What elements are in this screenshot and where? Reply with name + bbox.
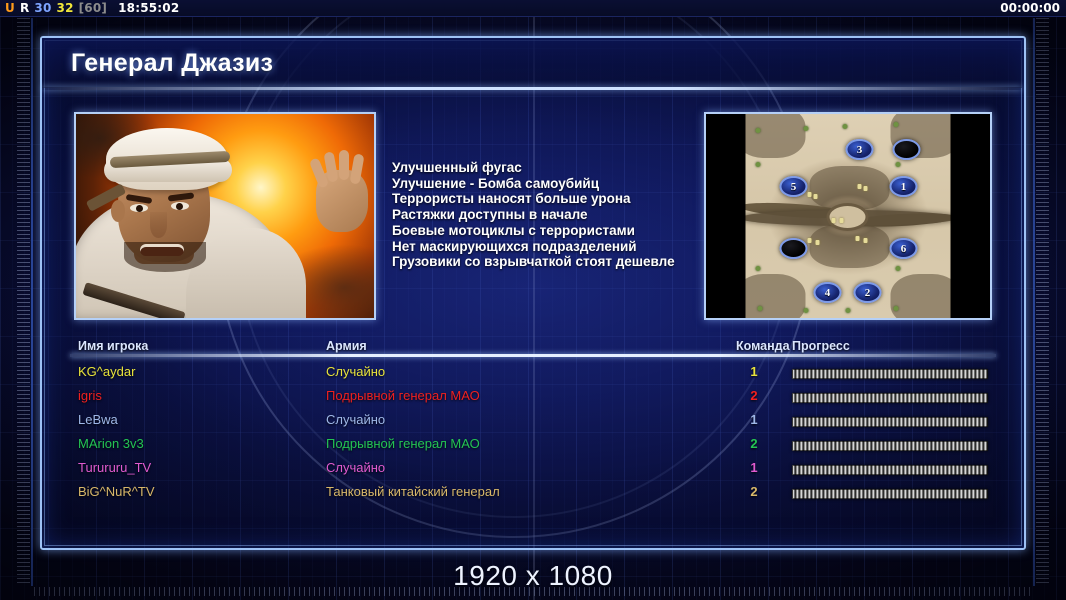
minimap-tree-marker — [758, 306, 763, 311]
panel-title-row: Генерал Джазиз — [42, 38, 1022, 88]
column-header-army: Армия — [326, 339, 367, 353]
player-progress — [792, 436, 988, 451]
description-line: Грузовики со взрывчаткой стоят дешевле — [392, 254, 752, 270]
player-table: Имя игрока Армия Команда Прогресс KG^ayd… — [74, 334, 992, 534]
table-row[interactable]: BiG^NuR^TVТанковый китайский генерал2 — [74, 484, 992, 508]
player-army: Случайно — [326, 364, 385, 379]
column-header-team: Команда — [736, 339, 772, 353]
minimap-start-position-4[interactable]: 4 — [814, 282, 842, 303]
minimap-supply-marker — [814, 194, 818, 199]
portrait-pupil-right — [176, 203, 183, 210]
minimap-start-position-empty[interactable] — [780, 238, 808, 259]
minimap-center-island — [830, 206, 866, 228]
minimap-tree-marker — [843, 124, 848, 129]
minimap-tree-marker — [756, 266, 761, 271]
minimap-start-position-empty[interactable] — [893, 139, 921, 160]
player-army: Случайно — [326, 460, 385, 475]
minimap-supply-marker — [858, 184, 862, 189]
resolution-overlay: 1920 x 1080 — [0, 560, 1066, 592]
minimap-frame: 351642 — [704, 112, 992, 320]
minimap-tree-marker — [804, 126, 809, 131]
portrait-finger — [339, 150, 349, 180]
table-row[interactable]: LeBwaСлучайно1 — [74, 412, 992, 436]
title-divider — [42, 87, 1022, 90]
player-team: 2 — [736, 388, 772, 403]
hud-label-r: R — [20, 1, 29, 15]
player-name: BiG^NuR^TV — [78, 484, 155, 499]
loading-panel: Генерал Джазиз — [40, 36, 1026, 550]
minimap: 351642 — [746, 114, 951, 318]
description-line: Улучшенный фугас — [392, 160, 752, 176]
description-line: Террористы наносят больше урона — [392, 191, 752, 207]
description-line: Растяжки доступны в начале — [392, 207, 752, 223]
table-row[interactable]: Turururu_TVСлучайно1 — [74, 460, 992, 484]
column-header-progress: Прогресс — [792, 339, 850, 353]
player-team: 1 — [736, 460, 772, 475]
minimap-start-position-2[interactable]: 2 — [854, 282, 882, 303]
player-progress — [792, 484, 988, 499]
minimap-tree-marker — [894, 122, 899, 127]
minimap-supply-marker — [840, 218, 844, 223]
column-header-name: Имя игрока — [78, 339, 148, 353]
minimap-terrain — [891, 274, 951, 318]
screen: UR 30 32 [60] 18:55:02 00:00:00 Генерал … — [0, 0, 1066, 600]
player-army: Случайно — [326, 412, 385, 427]
minimap-supply-marker — [808, 192, 812, 197]
minimap-tree-marker — [896, 266, 901, 271]
minimap-tree-marker — [894, 306, 899, 311]
progress-bar — [792, 393, 988, 403]
progress-bar — [792, 465, 988, 475]
player-name: Turururu_TV — [78, 460, 151, 475]
hud-topbar: UR 30 32 [60] 18:55:02 00:00:00 — [0, 0, 1066, 17]
player-name: LeBwa — [78, 412, 118, 427]
portrait-nose — [150, 212, 167, 238]
player-progress — [792, 364, 988, 379]
table-header-row: Имя игрока Армия Команда Прогресс — [74, 334, 992, 356]
progress-bar — [792, 441, 988, 451]
minimap-start-position-1[interactable]: 1 — [890, 176, 918, 197]
player-progress — [792, 460, 988, 475]
minimap-supply-marker — [856, 236, 860, 241]
player-name: KG^aydar — [78, 364, 135, 379]
description-lines: Улучшенный фугасУлучшение - Бомба самоуб… — [392, 160, 752, 270]
hud-clock: 18:55:02 — [118, 1, 179, 15]
hud-stats: UR 30 32 [60] 18:55:02 — [0, 1, 179, 15]
minimap-tree-marker — [896, 162, 901, 167]
player-name: igris — [78, 388, 102, 403]
minimap-terrain — [810, 224, 890, 268]
table-row[interactable]: KG^aydarСлучайно1 — [74, 364, 992, 388]
progress-bar — [792, 489, 988, 499]
player-army: Подрывной генерал МАО — [326, 436, 480, 451]
player-army: Подрывной генерал МАО — [326, 388, 480, 403]
player-army: Танковый китайский генерал — [326, 484, 500, 499]
progress-bar — [792, 369, 988, 379]
progress-bar — [792, 417, 988, 427]
minimap-start-position-6[interactable]: 6 — [890, 238, 918, 259]
hud-value-blue: 30 — [34, 1, 51, 15]
player-team: 1 — [736, 412, 772, 427]
minimap-supply-marker — [864, 186, 868, 191]
minimap-supply-marker — [832, 218, 836, 223]
portrait-pupil-left — [136, 205, 143, 212]
page-title: Генерал Джазиз — [42, 49, 273, 78]
description-line: Боевые мотоциклы с террористами — [392, 223, 752, 239]
player-team: 2 — [736, 484, 772, 499]
portrait-mouth — [140, 244, 184, 256]
hud-value-yellow: 32 — [57, 1, 74, 15]
player-progress — [792, 412, 988, 427]
minimap-supply-marker — [816, 240, 820, 245]
general-description: Улучшенный фугасУлучшение - Бомба самоуб… — [392, 160, 752, 270]
description-line: Нет маскирующихся подразделений — [392, 239, 752, 255]
minimap-supply-marker — [808, 238, 812, 243]
minimap-supply-marker — [864, 238, 868, 243]
player-team: 1 — [736, 364, 772, 379]
minimap-terrain — [810, 166, 890, 210]
general-portrait — [74, 112, 376, 320]
minimap-tree-marker — [804, 308, 809, 313]
minimap-start-position-5[interactable]: 5 — [780, 176, 808, 197]
hud-timer: 00:00:00 — [1000, 1, 1066, 15]
minimap-terrain — [746, 114, 806, 158]
minimap-tree-marker — [756, 162, 761, 167]
hud-label-u: U — [5, 1, 15, 15]
minimap-tree-marker — [756, 128, 761, 133]
hud-value-grey: [60] — [79, 1, 107, 15]
player-name: MArion 3v3 — [78, 436, 144, 451]
table-body: KG^aydarСлучайно1igrisПодрывной генерал … — [74, 364, 992, 508]
description-line: Улучшение - Бомба самоубийц — [392, 176, 752, 192]
player-progress — [792, 388, 988, 403]
table-header-divider — [70, 354, 996, 357]
minimap-terrain — [746, 274, 806, 318]
player-team: 2 — [736, 436, 772, 451]
media-row: Улучшенный фугасУлучшение - Бомба самоуб… — [74, 112, 992, 320]
minimap-tree-marker — [846, 308, 851, 313]
table-row[interactable]: MArion 3v3Подрывной генерал МАО2 — [74, 436, 992, 460]
minimap-start-position-3[interactable]: 3 — [846, 139, 874, 160]
table-row[interactable]: igrisПодрывной генерал МАО2 — [74, 388, 992, 412]
portrait-ear — [111, 200, 125, 222]
